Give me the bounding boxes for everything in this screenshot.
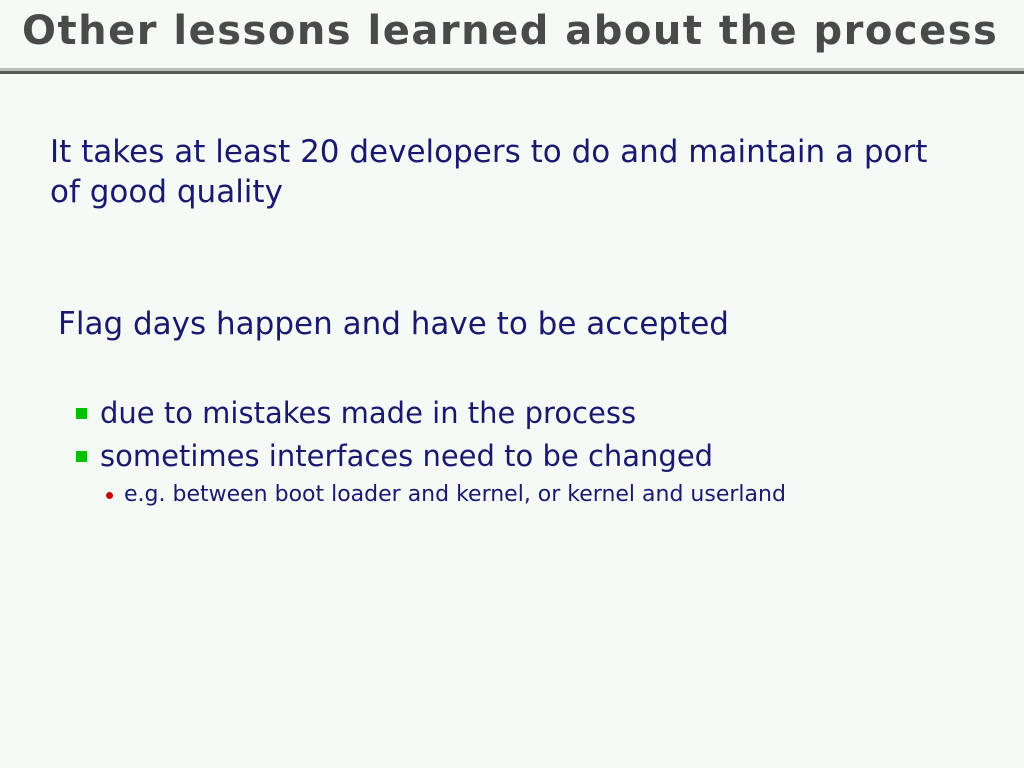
bullet-level2-interfaces-label: sometimes interfaces need to be changed [100, 435, 713, 478]
slide-title-area: Other lessons learned about the process [0, 0, 1024, 70]
bullet-level2-mistakes-label: due to mistakes made in the process [100, 392, 636, 435]
bullet-level2-interfaces: sometimes interfaces need to be changed [76, 435, 976, 478]
sub-sub-bullet-list: e.g. between boot loader and kernel, or … [106, 480, 986, 510]
bullet-level1-developers: It takes at least 20 developers to do an… [50, 132, 960, 212]
bullet-level3-example: e.g. between boot loader and kernel, or … [106, 480, 986, 510]
green-square-bullet-icon [76, 408, 87, 419]
bullet-level2-mistakes: due to mistakes made in the process [76, 392, 976, 435]
sub-bullet-list: due to mistakes made in the process some… [76, 392, 976, 478]
red-dot-bullet-icon [106, 492, 113, 499]
bullet-level1-flag-days: Flag days happen and have to be accepted [58, 304, 938, 344]
bullet-level3-example-label: e.g. between boot loader and kernel, or … [124, 480, 786, 510]
slide: Other lessons learned about the process … [0, 0, 1024, 768]
slide-body: It takes at least 20 developers to do an… [0, 74, 1024, 768]
page-title: Other lessons learned about the process [22, 8, 998, 54]
green-square-bullet-icon [76, 451, 87, 462]
